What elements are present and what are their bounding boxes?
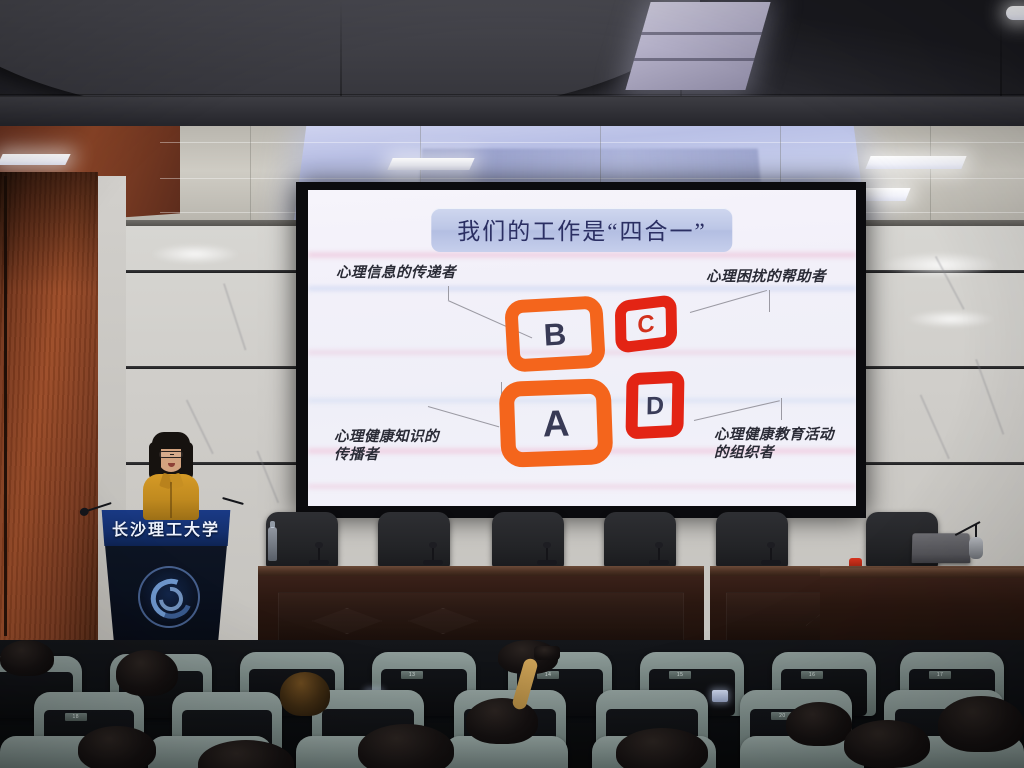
connector-line-c	[690, 290, 770, 338]
seat-number-plate: 18	[65, 713, 87, 721]
slide-label-bottom-left-line1: 心理健康知识的	[334, 428, 439, 446]
handheld-device	[534, 646, 560, 660]
audience-head	[0, 640, 54, 676]
microphone-head-icon	[969, 537, 983, 559]
seat-number-plate: 17	[929, 671, 951, 679]
slide-label-bottom-left: 心理健康知识的 传播者	[334, 428, 439, 464]
audience-head	[116, 650, 178, 696]
diagram-box-d-letter: D	[646, 391, 665, 421]
desk-microphone	[770, 546, 772, 562]
connector-line-a	[428, 404, 508, 444]
water-bottle	[268, 527, 277, 561]
ceiling-light-icon	[1006, 6, 1024, 20]
desk-microphone	[318, 546, 320, 562]
diagram-box-d[interactable]: D	[625, 370, 684, 439]
diagram-box-a-letter: A	[542, 403, 570, 446]
ceiling-dark-area	[0, 0, 1024, 132]
ceiling-skylight	[625, 2, 770, 90]
laptop[interactable]	[912, 533, 971, 563]
ceiling-light-icon	[387, 158, 474, 170]
audience-head	[938, 696, 1024, 752]
projection-screen-frame: 我们的工作是“四合一” B	[296, 182, 866, 518]
audience-head	[786, 702, 852, 746]
audience-head	[78, 726, 156, 768]
slide-label-bottom-right: 心理健康教育活动 的组织者	[714, 426, 834, 462]
desk-microphone	[432, 546, 434, 562]
wood-panel-gap	[4, 176, 7, 636]
wood-panel-shadow	[0, 172, 98, 292]
audience-head	[280, 672, 330, 716]
university-emblem-icon	[138, 566, 200, 628]
diagram-box-b[interactable]: B	[504, 295, 606, 372]
slide-label-bottom-right-line1: 心理健康教育活动	[714, 426, 834, 444]
ceiling-light-icon	[865, 156, 966, 169]
audience-head	[844, 720, 930, 768]
seat-number-plate: 15	[669, 671, 691, 679]
phone-screen-glow	[712, 690, 728, 702]
slide-label-bottom-right-line2: 的组织者	[714, 444, 834, 462]
projection-screen: 我们的工作是“四合一” B	[308, 190, 856, 506]
audience-head	[616, 728, 708, 768]
lecture-hall-photo: 我们的工作是“四合一” B	[0, 0, 1024, 768]
audience-head	[466, 698, 538, 744]
diagram-box-a[interactable]: A	[499, 378, 614, 468]
slide-label-bottom-left-line2: 传播者	[334, 446, 439, 464]
seat-number-plate: 13	[401, 671, 423, 679]
diagram-box-c-letter: C	[637, 310, 655, 340]
ceiling-seam	[0, 94, 1024, 95]
glasses-icon	[159, 451, 183, 458]
slide-label-top-right: 心理困扰的帮助者	[706, 268, 826, 286]
desk-microphone	[658, 546, 660, 562]
audience-seating-area: 12 13 14 15 16 17 18	[0, 640, 1024, 768]
desk-microphone	[546, 546, 548, 562]
speaker-person	[143, 432, 199, 518]
diagram-box-b-letter: B	[543, 316, 567, 353]
audience-head	[358, 724, 454, 768]
slide-title: 我们的工作是“四合一”	[431, 208, 732, 252]
slide-title-container: 我们的工作是“四合一”	[431, 208, 732, 252]
seat-number-plate: 16	[801, 671, 823, 679]
slide-label-top-left: 心理信息的传递者	[336, 264, 456, 282]
ceiling-light-icon	[0, 154, 71, 165]
diagram-box-c[interactable]: C	[615, 294, 677, 354]
